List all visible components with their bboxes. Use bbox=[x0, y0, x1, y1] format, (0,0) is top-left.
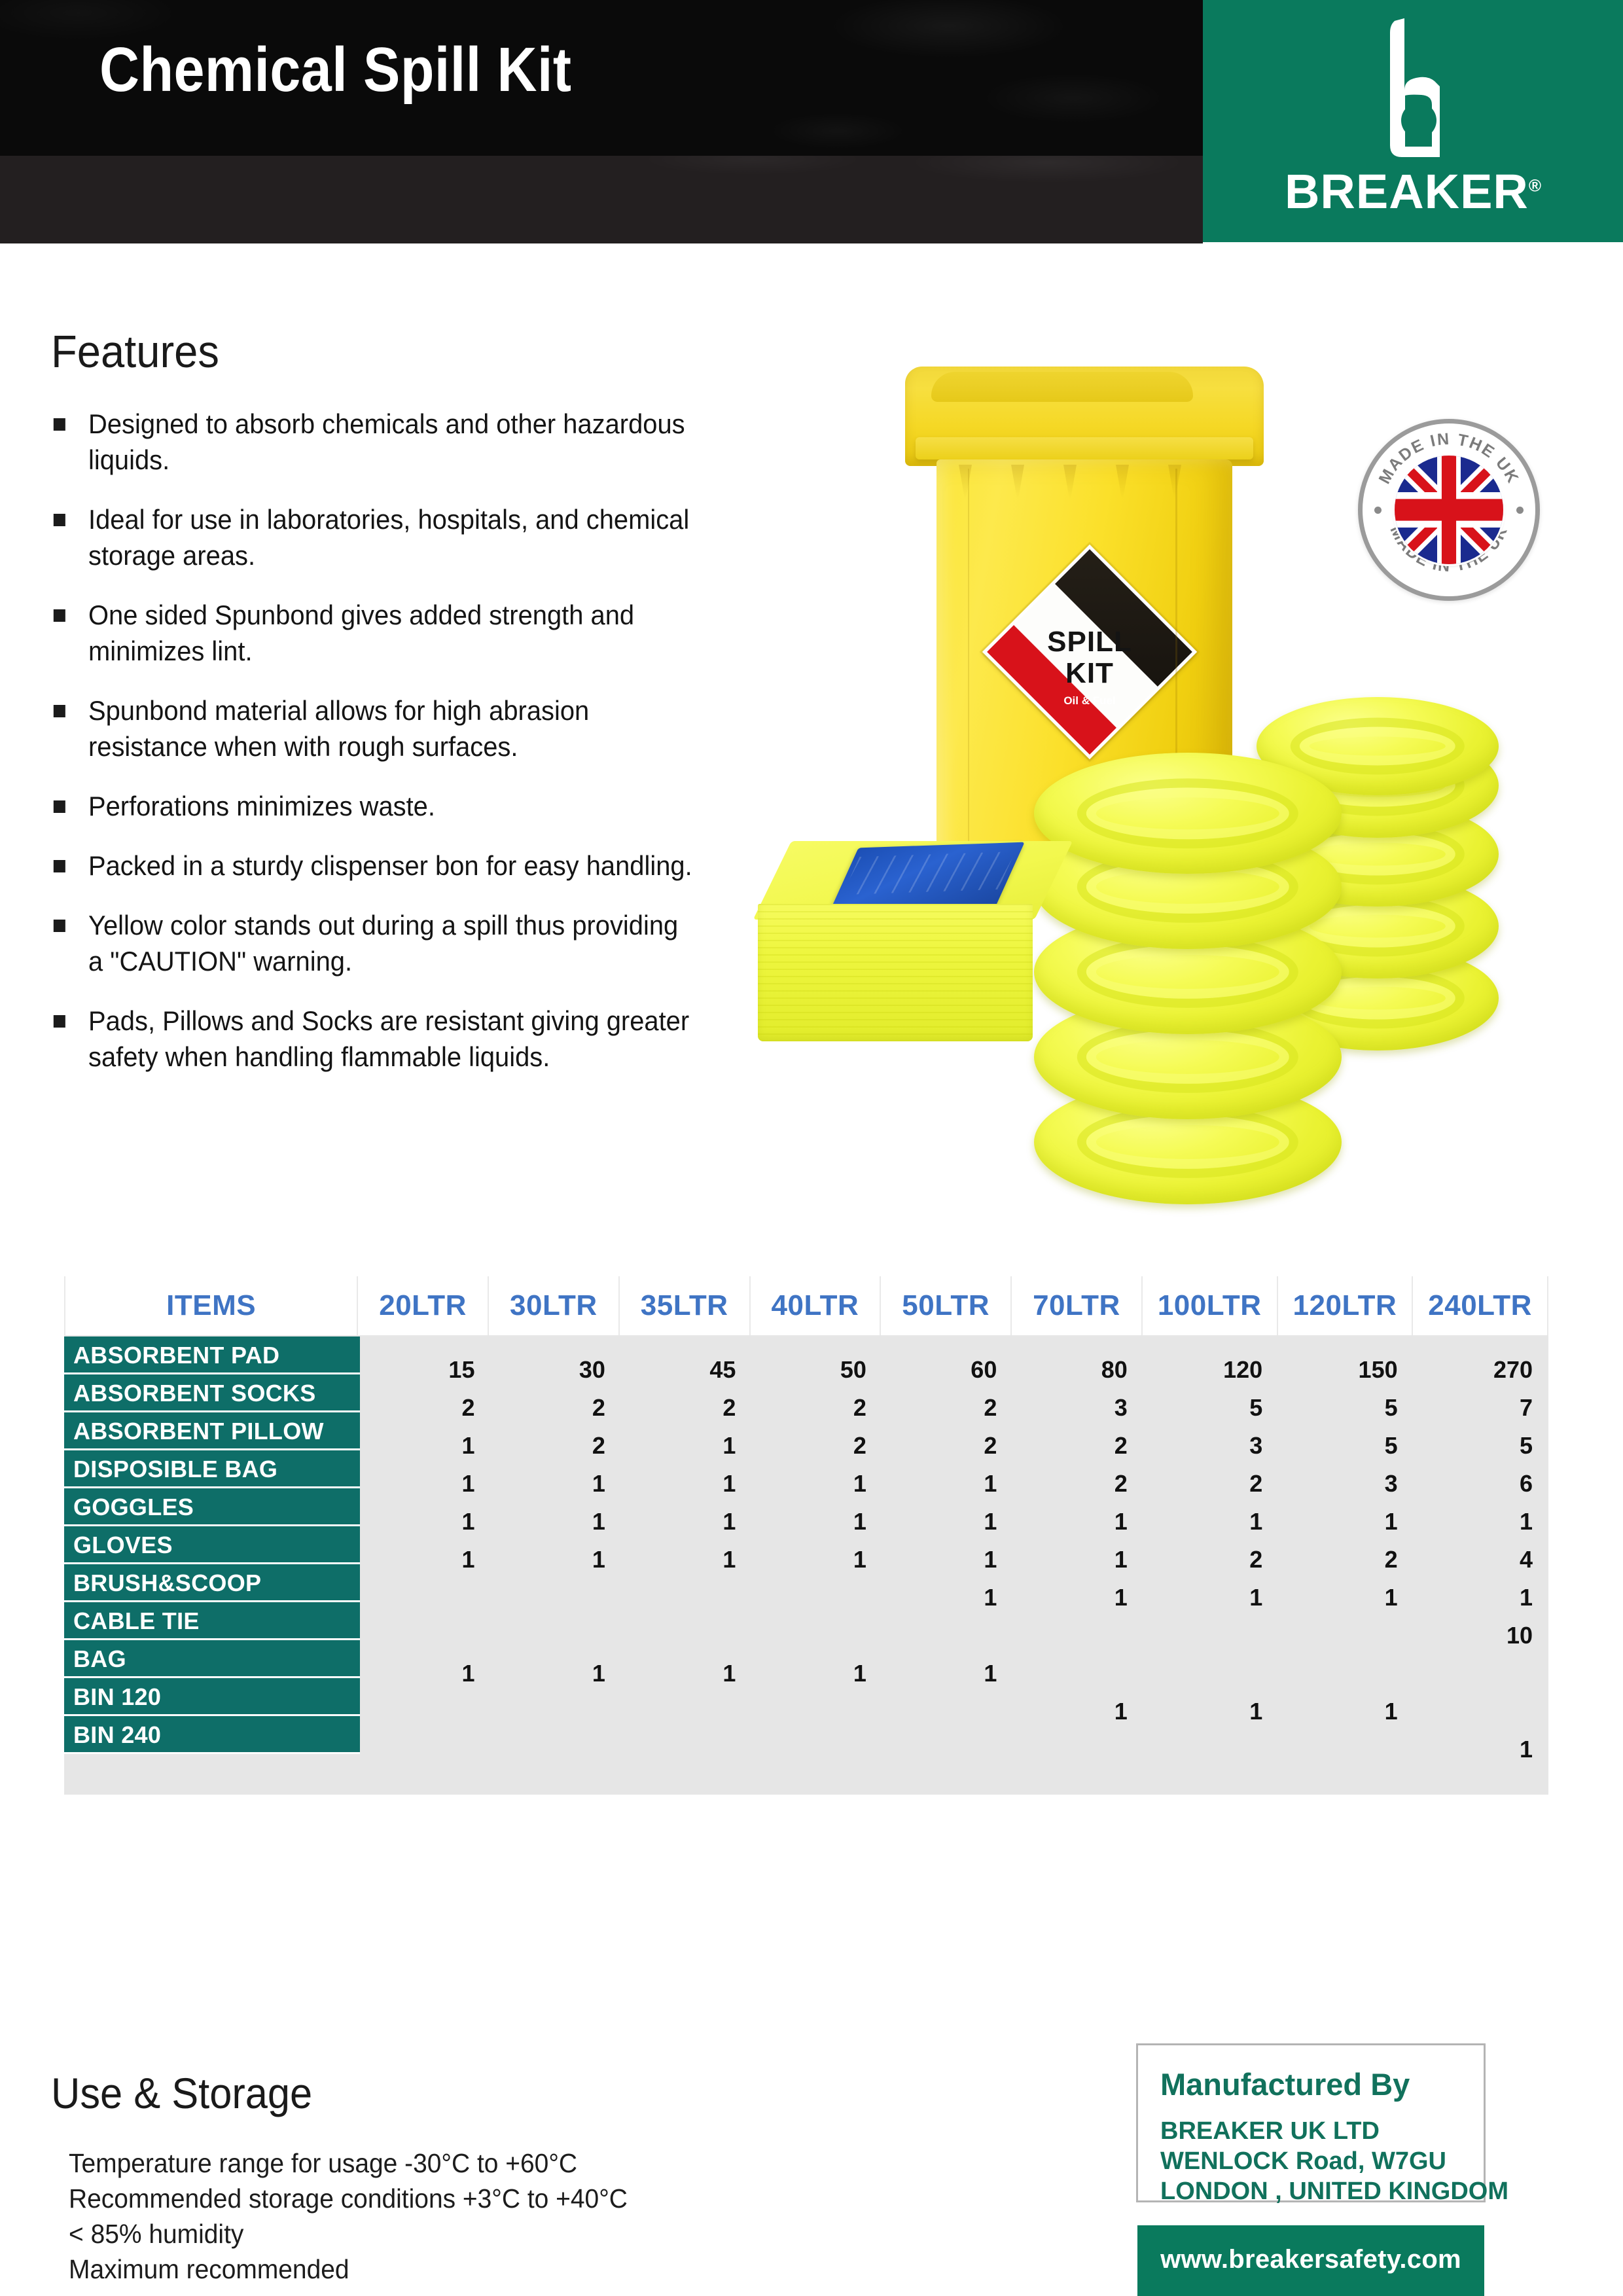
table-cell bbox=[621, 1693, 751, 1731]
bullet-square-icon bbox=[54, 860, 65, 872]
table-cell: 1 bbox=[1414, 1503, 1548, 1541]
manufacturer-city: LONDON , UNITED KINGDOM bbox=[1160, 2176, 1508, 2206]
table-row-label-column: ABSORBENT PAD ABSORBENT SOCKS ABSORBENT … bbox=[64, 1336, 360, 1754]
table-row: BAG bbox=[64, 1640, 360, 1678]
feature-item: Yellow color stands out during a spill t… bbox=[51, 907, 698, 979]
table-row: GLOVES bbox=[64, 1526, 360, 1564]
table-col-header-35ltr: 35LTR bbox=[620, 1276, 751, 1335]
table-value-row: 10 bbox=[360, 1617, 1548, 1655]
table-cell: 7 bbox=[1414, 1389, 1548, 1427]
feature-text: Packed in a sturdy clispenser bon for ea… bbox=[88, 850, 692, 881]
brand-panel: BREAKER® bbox=[1203, 0, 1623, 242]
table-cell: 5 bbox=[1143, 1389, 1278, 1427]
table-cell: 60 bbox=[882, 1351, 1012, 1389]
table-cell bbox=[490, 1731, 620, 1768]
brand-name-text: BREAKER bbox=[1285, 164, 1529, 219]
feature-item: Perforations minimizes waste. bbox=[51, 788, 754, 824]
bullet-square-icon bbox=[54, 800, 65, 813]
table-value-row: 1 1 1 1 1 1 1 1 1 bbox=[360, 1503, 1548, 1541]
bullet-square-icon bbox=[54, 418, 65, 431]
feature-item: One sided Spunbond gives added strength … bbox=[51, 597, 754, 669]
bullet-square-icon bbox=[54, 514, 65, 526]
table-cell: 2 bbox=[751, 1427, 882, 1465]
table-cell bbox=[751, 1579, 882, 1617]
table-value-row: 1 1 1 1 1 2 2 3 6 bbox=[360, 1465, 1548, 1503]
product-datasheet-page: Chemical Spill Kit BREAKER® Features Des… bbox=[0, 0, 1623, 2296]
table-cell: 30 bbox=[490, 1351, 620, 1389]
breaker-b-logo-icon bbox=[1364, 18, 1462, 159]
table-cell bbox=[490, 1579, 620, 1617]
table-cell: 2 bbox=[882, 1389, 1012, 1427]
table-cell bbox=[882, 1731, 1012, 1768]
table-cell: 2 bbox=[1278, 1541, 1413, 1579]
table-cell bbox=[1278, 1617, 1413, 1655]
table-cell: 1 bbox=[1414, 1731, 1548, 1768]
table-cell bbox=[360, 1617, 490, 1655]
table-cell: 1 bbox=[1012, 1503, 1143, 1541]
table-row: BRUSH&SCOOP bbox=[64, 1564, 360, 1602]
table-cell: 1 bbox=[621, 1427, 751, 1465]
table-row: GOGGLES bbox=[64, 1488, 360, 1526]
table-col-header-100ltr: 100LTR bbox=[1143, 1276, 1278, 1335]
table-cell bbox=[1278, 1655, 1413, 1693]
table-cell: 3 bbox=[1278, 1465, 1413, 1503]
table-cell bbox=[621, 1617, 751, 1655]
feature-item: Ideal for use in laboratories, hospitals… bbox=[51, 501, 754, 573]
use-storage-line: Recommended storage conditions +3°C to +… bbox=[69, 2181, 628, 2216]
union-jack-flag-icon bbox=[1395, 456, 1503, 564]
table-cell: 1 bbox=[882, 1503, 1012, 1541]
table-cell: 1 bbox=[751, 1503, 882, 1541]
page-header: Chemical Spill Kit BREAKER® bbox=[0, 0, 1623, 243]
feature-item: Pads, Pillows and Socks are resistant gi… bbox=[51, 1003, 698, 1075]
table-cell: 2 bbox=[490, 1389, 620, 1427]
table-cell: 1 bbox=[360, 1503, 490, 1541]
diamond-label-line1: SPILL bbox=[1047, 626, 1132, 658]
bullet-square-icon bbox=[54, 1015, 65, 1028]
absorbent-pads-stack bbox=[753, 841, 1060, 1057]
table-cell: 1 bbox=[1278, 1503, 1413, 1541]
table-value-row: 1 bbox=[360, 1731, 1548, 1768]
table-row: ABSORBENT PILLOW bbox=[64, 1412, 360, 1450]
table-cell: 1 bbox=[1278, 1693, 1413, 1731]
table-cell: 2 bbox=[1012, 1427, 1143, 1465]
table-cell bbox=[621, 1579, 751, 1617]
table-cell: 2 bbox=[1012, 1465, 1143, 1503]
table-cell: 1 bbox=[490, 1465, 620, 1503]
table-cell: 270 bbox=[1414, 1351, 1548, 1389]
table-cell: 5 bbox=[1414, 1427, 1548, 1465]
table-row: BIN 120 bbox=[64, 1678, 360, 1716]
made-in-uk-badge: MADE IN THE UK MADE IN THE UK bbox=[1358, 419, 1540, 601]
table-row: CABLE TIE bbox=[64, 1602, 360, 1640]
product-photo: SPILL KIT Oil & Fuel bbox=[740, 353, 1531, 1204]
use-storage-heading: Use & Storage bbox=[51, 2068, 312, 2118]
absorbent-socks-stack-front bbox=[1034, 753, 1342, 1204]
table-cell: 1 bbox=[1143, 1693, 1278, 1731]
table-cell bbox=[751, 1731, 882, 1768]
table-cell bbox=[1414, 1655, 1548, 1693]
table-cell: 50 bbox=[751, 1351, 882, 1389]
table-cell bbox=[490, 1693, 620, 1731]
table-cell: 1 bbox=[1143, 1579, 1278, 1617]
sock-coil bbox=[1034, 753, 1342, 874]
table-value-row: 1 1 1 1 1 bbox=[360, 1579, 1548, 1617]
bin-lid bbox=[905, 367, 1264, 466]
table-row: ABSORBENT PAD bbox=[64, 1336, 360, 1374]
table-cell bbox=[360, 1579, 490, 1617]
registered-mark: ® bbox=[1529, 175, 1541, 195]
spill-kit-diamond-label: SPILL KIT Oil & Fuel bbox=[982, 545, 1197, 759]
features-heading: Features bbox=[51, 325, 219, 378]
table-cell: 1 bbox=[360, 1427, 490, 1465]
feature-text: Perforations minimizes waste. bbox=[88, 791, 435, 821]
table-cell bbox=[1143, 1655, 1278, 1693]
website-bar[interactable]: www.breakersafety.com bbox=[1137, 2225, 1484, 2296]
table-cell: 150 bbox=[1278, 1351, 1413, 1389]
table-cell: 45 bbox=[621, 1351, 751, 1389]
table-cell: 4 bbox=[1414, 1541, 1548, 1579]
specification-table: ITEMS 20LTR 30LTR 35LTR 40LTR 50LTR 70LT… bbox=[64, 1276, 1548, 1795]
table-row: DISPOSIBLE BAG bbox=[64, 1450, 360, 1488]
table-cell bbox=[360, 1731, 490, 1768]
table-value-row: 15 30 45 50 60 80 120 150 270 bbox=[360, 1351, 1548, 1389]
table-cell: 1 bbox=[490, 1541, 620, 1579]
table-cell: 2 bbox=[751, 1389, 882, 1427]
table-cell: 6 bbox=[1414, 1465, 1548, 1503]
table-cell: 3 bbox=[1143, 1427, 1278, 1465]
table-cell: 2 bbox=[360, 1389, 490, 1427]
table-row: BIN 240 bbox=[64, 1716, 360, 1754]
table-cell: 120 bbox=[1143, 1351, 1278, 1389]
table-col-header-70ltr: 70LTR bbox=[1012, 1276, 1143, 1335]
table-cell: 1 bbox=[621, 1655, 751, 1693]
feature-item: Spunbond material allows for high abrasi… bbox=[51, 692, 710, 764]
feature-item: Designed to absorb chemicals and other h… bbox=[51, 406, 754, 478]
table-cell bbox=[1143, 1731, 1278, 1768]
table-cell: 5 bbox=[1278, 1427, 1413, 1465]
table-cell: 1 bbox=[1414, 1579, 1548, 1617]
diamond-label-text: SPILL KIT bbox=[1017, 626, 1162, 689]
table-value-row: 1 1 1 1 1 1 2 2 4 bbox=[360, 1541, 1548, 1579]
bullet-square-icon bbox=[54, 920, 65, 932]
header-dark-band-lower bbox=[0, 156, 1203, 243]
table-value-row: 2 2 2 2 2 3 5 5 7 bbox=[360, 1389, 1548, 1427]
table-cell: 1 bbox=[1278, 1579, 1413, 1617]
table-cell: 1 bbox=[360, 1541, 490, 1579]
bullet-square-icon bbox=[54, 609, 65, 622]
table-cell bbox=[882, 1617, 1012, 1655]
brand-name: BREAKER® bbox=[1203, 164, 1623, 219]
manufacturer-address: BREAKER UK LTD WENLOCK Road, W7GU LONDON… bbox=[1160, 2116, 1508, 2206]
table-cell: 1 bbox=[1012, 1579, 1143, 1617]
table-cell bbox=[1143, 1617, 1278, 1655]
table-cell bbox=[751, 1617, 882, 1655]
diamond-label-subtitle: Oil & Fuel bbox=[1017, 694, 1162, 708]
table-cell: 1 bbox=[621, 1503, 751, 1541]
table-cell: 1 bbox=[751, 1541, 882, 1579]
table-cell bbox=[751, 1693, 882, 1731]
feature-text: Spunbond material allows for high abrasi… bbox=[88, 695, 589, 762]
table-cell: 2 bbox=[1143, 1541, 1278, 1579]
table-value-row: 1 1 1 1 1 bbox=[360, 1655, 1548, 1693]
table-cell: 1 bbox=[490, 1503, 620, 1541]
use-storage-line: < 85% humidity bbox=[69, 2216, 628, 2251]
table-cell bbox=[1278, 1731, 1413, 1768]
table-cell: 2 bbox=[1143, 1465, 1278, 1503]
table-col-header-120ltr: 120LTR bbox=[1278, 1276, 1414, 1335]
table-cell: 10 bbox=[1414, 1617, 1548, 1655]
table-cell: 1 bbox=[882, 1579, 1012, 1617]
manufacturer-heading: Manufactured By bbox=[1160, 2066, 1410, 2102]
table-cell: 1 bbox=[360, 1655, 490, 1693]
table-cell: 1 bbox=[882, 1655, 1012, 1693]
table-cell: 1 bbox=[1012, 1541, 1143, 1579]
table-body: ABSORBENT PAD ABSORBENT SOCKS ABSORBENT … bbox=[64, 1336, 1548, 1795]
table-row: ABSORBENT SOCKS bbox=[64, 1374, 360, 1412]
table-cell bbox=[882, 1693, 1012, 1731]
manufacturer-street: WENLOCK Road, W7GU bbox=[1160, 2146, 1508, 2176]
table-value-row: 1 1 1 bbox=[360, 1693, 1548, 1731]
feature-text: Ideal for use in laboratories, hospitals… bbox=[88, 504, 689, 571]
table-cell bbox=[490, 1617, 620, 1655]
page-title: Chemical Spill Kit bbox=[99, 34, 571, 106]
pad-side-layers bbox=[758, 904, 1033, 1041]
table-cell bbox=[360, 1693, 490, 1731]
feature-text: Pads, Pillows and Socks are resistant gi… bbox=[88, 1005, 689, 1072]
table-cell: 15 bbox=[360, 1351, 490, 1389]
table-col-header-40ltr: 40LTR bbox=[751, 1276, 882, 1335]
feature-text: One sided Spunbond gives added strength … bbox=[88, 600, 634, 666]
table-cell: 3 bbox=[1012, 1389, 1143, 1427]
table-value-grid: 15 30 45 50 60 80 120 150 270 2 2 2 2 2 … bbox=[360, 1351, 1548, 1768]
table-cell: 1 bbox=[882, 1541, 1012, 1579]
manufacturer-name: BREAKER UK LTD bbox=[1160, 2116, 1508, 2146]
table-cell: 2 bbox=[621, 1389, 751, 1427]
table-col-header-items: ITEMS bbox=[64, 1276, 358, 1335]
table-cell bbox=[1012, 1617, 1143, 1655]
table-cell: 5 bbox=[1278, 1389, 1413, 1427]
use-storage-line: Temperature range for usage -30°C to +60… bbox=[69, 2145, 628, 2181]
table-col-header-50ltr: 50LTR bbox=[881, 1276, 1012, 1335]
table-cell: 2 bbox=[882, 1427, 1012, 1465]
table-cell: 2 bbox=[490, 1427, 620, 1465]
table-col-header-20ltr: 20LTR bbox=[358, 1276, 489, 1335]
manufacturer-box: Manufactured By BREAKER UK LTD WENLOCK R… bbox=[1136, 2043, 1486, 2202]
feature-text: Yellow color stands out during a spill t… bbox=[88, 910, 678, 977]
table-cell: 1 bbox=[751, 1465, 882, 1503]
use-storage-text: Temperature range for usage -30°C to +60… bbox=[69, 2145, 628, 2287]
table-cell: 1 bbox=[1143, 1503, 1278, 1541]
table-cell: 1 bbox=[1012, 1693, 1143, 1731]
table-col-header-30ltr: 30LTR bbox=[489, 1276, 620, 1335]
table-cell: 1 bbox=[360, 1465, 490, 1503]
diamond-label-line2: KIT bbox=[1065, 657, 1114, 689]
table-cell: 1 bbox=[882, 1465, 1012, 1503]
feature-item: Packed in a sturdy clispenser bon for ea… bbox=[51, 848, 754, 884]
bullet-square-icon bbox=[54, 705, 65, 717]
table-cell: 1 bbox=[751, 1655, 882, 1693]
feature-text: Designed to absorb chemicals and other h… bbox=[88, 408, 685, 475]
table-cell: 80 bbox=[1012, 1351, 1143, 1389]
website-url[interactable]: www.breakersafety.com bbox=[1137, 2245, 1484, 2274]
table-header-row: ITEMS 20LTR 30LTR 35LTR 40LTR 50LTR 70LT… bbox=[64, 1276, 1548, 1336]
table-cell bbox=[1414, 1693, 1548, 1731]
diamond-label-text-wrap: SPILL KIT Oil & Fuel bbox=[1017, 579, 1162, 725]
table-cell bbox=[1012, 1655, 1143, 1693]
table-cell: 1 bbox=[490, 1655, 620, 1693]
table-cell: 1 bbox=[621, 1541, 751, 1579]
table-cell bbox=[1012, 1731, 1143, 1768]
table-col-header-240ltr: 240LTR bbox=[1413, 1276, 1548, 1335]
table-cell: 1 bbox=[621, 1465, 751, 1503]
use-storage-line: Maximum recommended bbox=[69, 2251, 628, 2287]
table-cell bbox=[621, 1731, 751, 1768]
table-value-row: 1 2 1 2 2 2 3 5 5 bbox=[360, 1427, 1548, 1465]
features-list: Designed to absorb chemicals and other h… bbox=[51, 406, 791, 1098]
bin-ribs bbox=[946, 465, 1221, 504]
